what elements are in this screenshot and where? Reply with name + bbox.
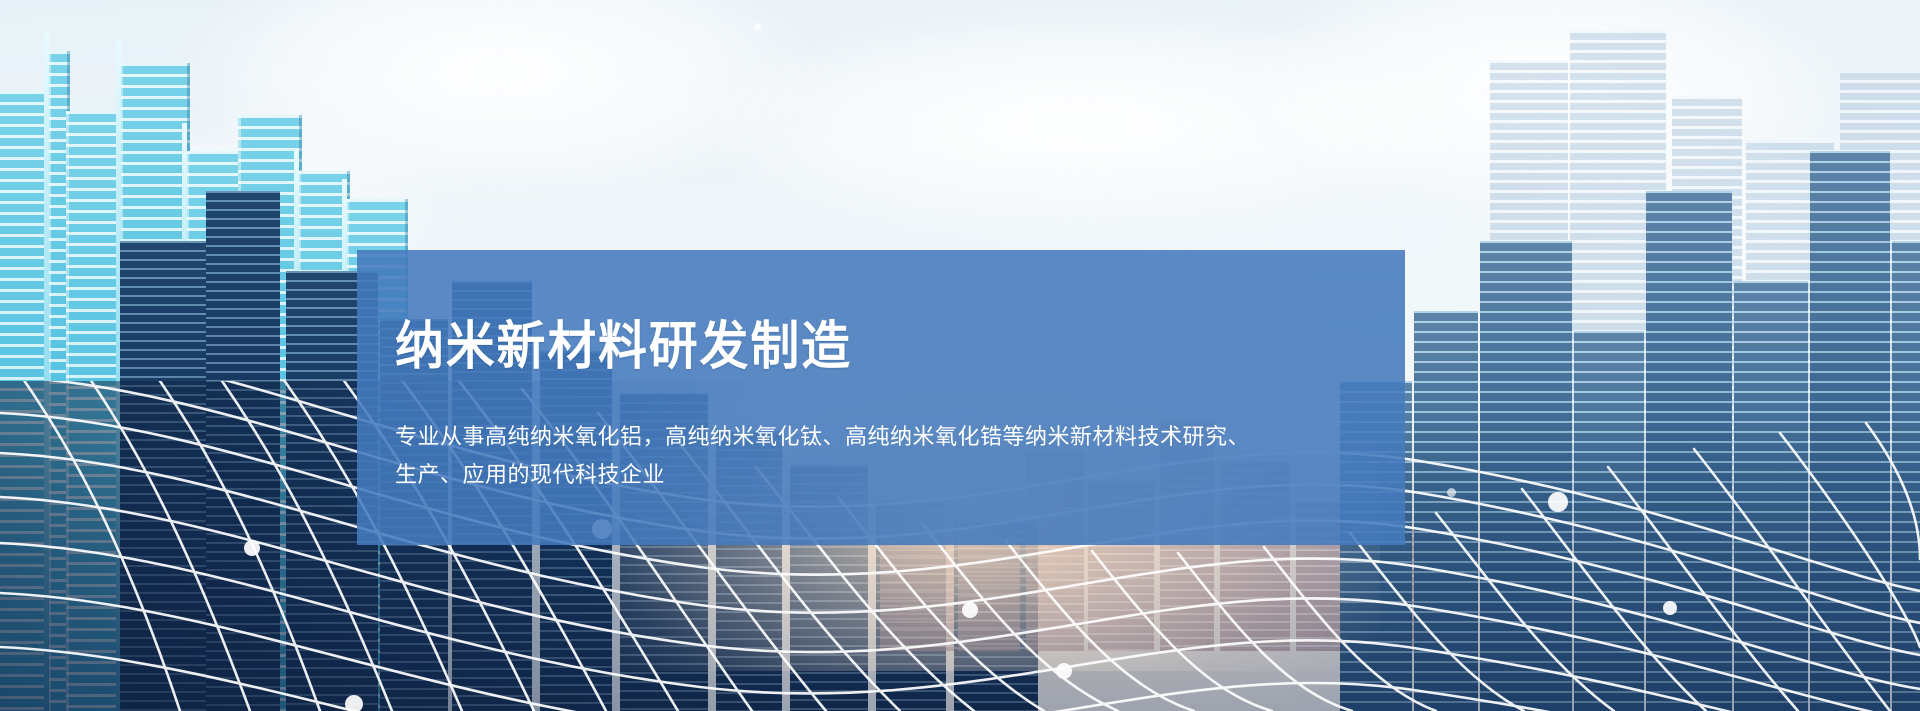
particle-dot — [754, 23, 761, 30]
particle-dot — [962, 602, 978, 618]
hero-banner: 纳米新材料研发制造 专业从事高纯纳米氧化铝，高纯纳米氧化钛、高纯纳米氧化锆等纳米… — [0, 0, 1920, 711]
hero-text-panel — [357, 250, 1405, 545]
particle-dot — [345, 695, 363, 711]
hero-subtitle-line-1: 专业从事高纯纳米氧化铝，高纯纳米氧化钛、高纯纳米氧化锆等纳米新材料技术研究、 — [395, 418, 1395, 456]
page-title: 纳米新材料研发制造 — [395, 321, 852, 373]
particle-dot — [1056, 663, 1072, 679]
particle-dot — [1548, 492, 1568, 512]
hero-subtitle: 专业从事高纯纳米氧化铝，高纯纳米氧化钛、高纯纳米氧化锆等纳米新材料技术研究、 生… — [395, 418, 1395, 494]
particle-dot — [244, 540, 260, 556]
particle-dot — [1447, 488, 1456, 497]
hero-subtitle-line-2: 生产、应用的现代科技企业 — [395, 456, 1395, 494]
particle-dot — [1663, 601, 1677, 615]
